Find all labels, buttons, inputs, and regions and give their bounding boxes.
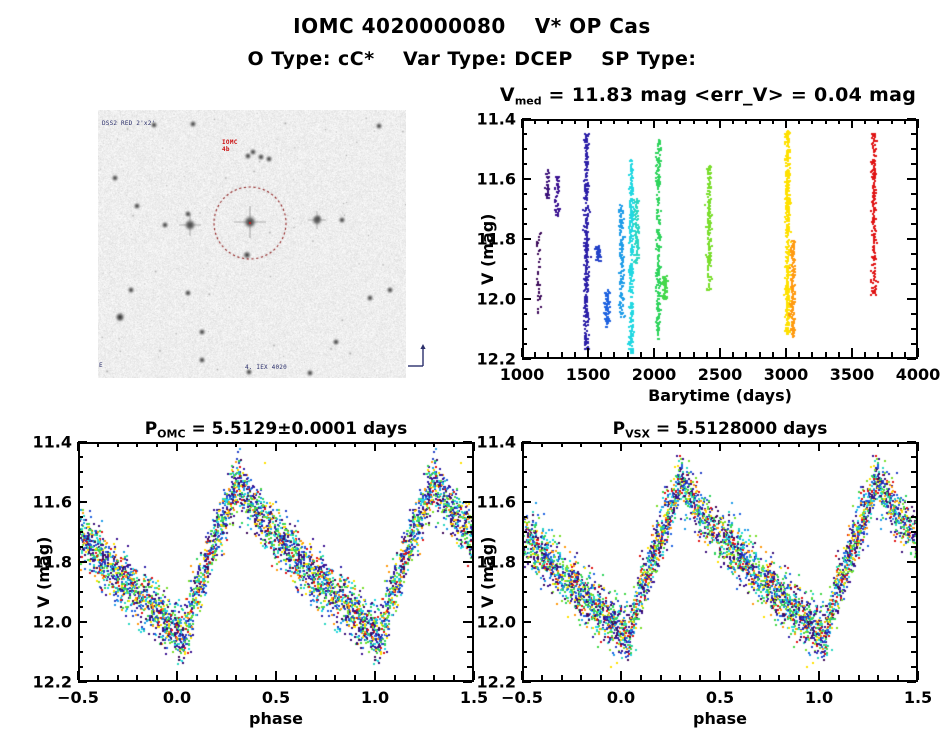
x-tick-mark [275,442,277,451]
x-tick-mark [77,442,79,451]
x-minor-tick [811,352,813,357]
y-minor-tick [911,133,916,135]
x-minor-tick [877,119,879,124]
x-minor-tick [732,119,734,124]
finder-left-label: E [99,362,103,369]
x-tick-label: 1.5 [904,688,932,707]
y-tick-label: 11.6 [20,493,72,512]
x-tick-label: 1000 [500,365,545,384]
x-tick-mark [587,119,589,128]
y-minor-tick [911,531,916,533]
vmed-text: = 11.83 mag <err_V> = 0.04 mag [542,84,917,106]
x-minor-tick [547,352,549,357]
y-tick-mark [522,178,531,180]
y-tick-mark [522,118,531,120]
x-minor-tick [613,119,615,124]
x-minor-tick [679,442,681,447]
vmed-subscript: med [515,94,542,107]
y-minor-tick [78,471,83,473]
x-minor-tick [825,352,827,357]
x-minor-tick [561,442,563,447]
x-tick-mark [275,671,277,680]
x-minor-tick [196,442,198,447]
phase-omc-period-symbol: P [145,419,157,439]
y-minor-tick [78,546,83,548]
y-tick-mark [907,118,916,120]
y-minor-tick [911,591,916,593]
y-minor-tick [78,591,83,593]
phase-vsx-title: PVSX = 5.5128000 days [522,419,918,440]
x-tick-label: 2500 [698,365,743,384]
y-tick-mark [907,561,916,563]
x-tick-mark [818,442,820,451]
y-minor-tick [78,651,83,653]
x-minor-tick [574,119,576,124]
y-minor-tick [467,471,472,473]
y-tick-mark [907,358,916,360]
y-minor-tick [522,531,527,533]
x-minor-tick [778,675,780,680]
o-type-label: O Type: [247,48,330,70]
y-tick-mark [78,681,87,683]
y-minor-tick [522,343,527,345]
y-tick-mark [78,441,87,443]
x-minor-tick [627,352,629,357]
y-tick-mark [907,298,916,300]
y-tick-mark [907,441,916,443]
dss-finder-image [98,110,406,378]
x-minor-tick [216,442,218,447]
x-minor-tick [541,675,543,680]
x-tick-label: 0.0 [607,688,635,707]
phase-omc-scatter [80,444,472,680]
x-minor-tick [759,352,761,357]
y-tick-mark [522,561,531,563]
y-minor-tick [911,666,916,668]
x-tick-label: 0.0 [163,688,191,707]
x-minor-tick [745,352,747,357]
y-minor-tick [911,576,916,578]
x-minor-tick [745,119,747,124]
vmed-symbol: V [500,84,515,106]
x-tick-mark [818,671,820,680]
y-minor-tick [78,516,83,518]
phase-omc-x-label: phase [78,709,474,728]
x-minor-tick [877,675,879,680]
x-minor-tick [315,442,317,447]
y-minor-tick [522,313,527,315]
phase-omc-title: POMC = 5.5129±0.0001 days [78,419,474,440]
x-minor-tick [904,352,906,357]
object-type-line: O Type: cC* Var Type: DCEP SP Type: [0,48,944,70]
y-minor-tick [911,283,916,285]
x-tick-mark [521,671,523,680]
y-minor-tick [522,651,527,653]
x-tick-label: 1500 [566,365,611,384]
x-minor-tick [414,442,416,447]
x-tick-mark [521,119,523,128]
x-tick-mark [374,442,376,451]
x-minor-tick [580,442,582,447]
x-minor-tick [699,442,701,447]
x-minor-tick [811,119,813,124]
phase-omc-period-text: = 5.5129±0.0001 days [186,419,408,439]
x-minor-tick [97,675,99,680]
y-minor-tick [911,343,916,345]
phase-vsx-y-label: V (mag) [478,537,497,609]
y-tick-label: 11.4 [464,433,516,452]
x-minor-tick [453,675,455,680]
x-minor-tick [699,675,701,680]
x-minor-tick [660,675,662,680]
x-minor-tick [295,675,297,680]
x-minor-tick [706,119,708,124]
x-minor-tick [354,442,356,447]
x-minor-tick [561,352,563,357]
phase-omc-y-label: V (mag) [34,537,53,609]
x-tick-mark [620,671,622,680]
y-minor-tick [911,328,916,330]
y-minor-tick [911,456,916,458]
x-minor-tick [561,119,563,124]
y-tick-mark [522,358,531,360]
x-minor-tick [858,442,860,447]
y-tick-label: 12.0 [464,613,516,632]
x-minor-tick [255,442,257,447]
x-tick-mark [521,348,523,357]
x-minor-tick [235,675,237,680]
x-minor-tick [838,442,840,447]
y-minor-tick [467,486,472,488]
x-minor-tick [156,675,158,680]
y-minor-tick [522,546,527,548]
var-type-value: DCEP [514,48,573,70]
x-minor-tick [394,442,396,447]
page-title: IOMC 4020000080 V* OP Cas [0,14,944,38]
x-minor-tick [640,352,642,357]
phase-omc-period-subscript: OMC [157,427,185,440]
y-minor-tick [522,666,527,668]
x-tick-mark [917,442,919,451]
x-tick-mark [719,671,721,680]
x-tick-mark [77,671,79,680]
phase-vsx-period-text: = 5.5128000 days [650,419,827,439]
x-minor-tick [561,675,563,680]
x-tick-mark [719,348,721,357]
x-tick-mark [719,442,721,451]
y-tick-mark [907,501,916,503]
y-minor-tick [522,486,527,488]
x-minor-tick [897,442,899,447]
x-minor-tick [679,675,681,680]
y-minor-tick [78,456,83,458]
y-minor-tick [467,576,472,578]
x-minor-tick [825,119,827,124]
y-minor-tick [467,666,472,668]
catalog-id: IOMC 4020000080 [293,14,506,38]
y-minor-tick [522,283,527,285]
x-minor-tick [679,352,681,357]
x-minor-tick [858,675,860,680]
y-minor-tick [78,486,83,488]
y-minor-tick [522,576,527,578]
star-name: V* OP Cas [535,14,651,38]
x-tick-label: 1.0 [361,688,389,707]
x-minor-tick [732,352,734,357]
y-minor-tick [467,531,472,533]
y-minor-tick [467,651,472,653]
x-minor-tick [897,675,899,680]
x-tick-label: 3000 [764,365,809,384]
x-minor-tick [534,352,536,357]
x-minor-tick [334,675,336,680]
y-tick-mark [907,178,916,180]
y-minor-tick [78,666,83,668]
y-minor-tick [522,253,527,255]
compass-icon [404,343,430,377]
phase-vsx-x-label: phase [522,709,918,728]
finder-corner-label: DSS2 RED 2'x2' [102,120,155,127]
x-minor-tick [433,442,435,447]
y-minor-tick [911,516,916,518]
y-tick-mark [522,441,531,443]
x-minor-tick [600,675,602,680]
x-minor-tick [864,352,866,357]
y-minor-tick [911,486,916,488]
finder-target-label: IOMC 4b [222,139,238,153]
x-minor-tick [666,352,668,357]
y-minor-tick [911,148,916,150]
y-minor-tick [78,576,83,578]
y-tick-mark [522,501,531,503]
x-tick-mark [176,671,178,680]
x-minor-tick [693,352,695,357]
x-minor-tick [627,119,629,124]
x-minor-tick [759,675,761,680]
x-minor-tick [660,442,662,447]
y-minor-tick [467,636,472,638]
x-minor-tick [255,675,257,680]
x-minor-tick [136,675,138,680]
y-minor-tick [522,516,527,518]
x-tick-mark [653,348,655,357]
y-minor-tick [911,163,916,165]
x-minor-tick [600,352,602,357]
x-minor-tick [666,119,668,124]
x-tick-label: −0.5 [501,688,543,707]
x-minor-tick [778,442,780,447]
y-minor-tick [522,636,527,638]
y-tick-label: 12.0 [20,613,72,632]
x-minor-tick [772,352,774,357]
y-tick-mark [522,621,531,623]
x-minor-tick [295,442,297,447]
x-minor-tick [394,675,396,680]
y-minor-tick [522,163,527,165]
y-minor-tick [911,606,916,608]
y-minor-tick [467,546,472,548]
y-minor-tick [522,148,527,150]
y-minor-tick [78,606,83,608]
x-minor-tick [891,119,893,124]
x-minor-tick [739,675,741,680]
y-minor-tick [522,268,527,270]
x-minor-tick [877,352,879,357]
x-tick-label: 0.5 [706,688,734,707]
y-minor-tick [522,193,527,195]
y-tick-mark [78,501,87,503]
x-tick-mark [851,119,853,128]
x-tick-label: 1.0 [805,688,833,707]
y-tick-mark [522,681,531,683]
x-minor-tick [334,442,336,447]
x-minor-tick [739,442,741,447]
x-minor-tick [613,352,615,357]
x-minor-tick [904,119,906,124]
x-minor-tick [216,675,218,680]
vmed-summary: Vmed = 11.83 mag <err_V> = 0.04 mag [472,84,944,107]
o-type-value: cC* [338,48,375,70]
y-tick-label: 11.8 [20,553,72,572]
x-minor-tick [864,119,866,124]
x-tick-mark [785,119,787,128]
y-minor-tick [911,268,916,270]
y-minor-tick [467,591,472,593]
x-minor-tick [541,442,543,447]
x-minor-tick [354,675,356,680]
x-minor-tick [156,442,158,447]
x-tick-mark [176,442,178,451]
x-tick-mark [719,119,721,128]
x-minor-tick [838,352,840,357]
phase-vsx-scatter [524,444,916,680]
y-tick-mark [907,621,916,623]
x-tick-label: 4000 [896,365,941,384]
x-minor-tick [693,119,695,124]
x-tick-label: −0.5 [57,688,99,707]
x-minor-tick [759,442,761,447]
y-minor-tick [911,208,916,210]
y-minor-tick [522,223,527,225]
y-minor-tick [522,328,527,330]
y-tick-label: 11.8 [464,553,516,572]
y-minor-tick [522,591,527,593]
var-type-label: Var Type: [403,48,507,70]
x-tick-mark [851,348,853,357]
x-minor-tick [640,675,642,680]
x-minor-tick [772,119,774,124]
x-minor-tick [97,442,99,447]
timeseries-y-label: V (mag) [478,214,497,286]
x-minor-tick [315,675,317,680]
finder-bottom-label: 4. IEX 4020 [245,364,287,371]
x-minor-tick [547,119,549,124]
x-minor-tick [838,119,840,124]
x-tick-mark [521,442,523,451]
y-tick-mark [907,238,916,240]
x-minor-tick [877,442,879,447]
x-minor-tick [117,442,119,447]
x-tick-mark [620,442,622,451]
x-minor-tick [574,352,576,357]
x-minor-tick [679,119,681,124]
x-tick-mark [785,348,787,357]
x-minor-tick [640,119,642,124]
y-minor-tick [911,253,916,255]
x-minor-tick [706,352,708,357]
y-minor-tick [911,313,916,315]
x-minor-tick [117,675,119,680]
x-minor-tick [235,442,237,447]
y-minor-tick [911,636,916,638]
phase-vsx-period-subscript: VSX [625,427,650,440]
timeseries-x-label: Barytime (days) [522,386,918,405]
x-tick-mark [587,348,589,357]
y-minor-tick [911,471,916,473]
x-tick-label: 3500 [830,365,875,384]
x-minor-tick [759,119,761,124]
x-minor-tick [534,119,536,124]
x-minor-tick [196,675,198,680]
y-tick-label: 11.6 [464,170,516,189]
sp-type-label: SP Type: [601,48,696,70]
x-minor-tick [640,442,642,447]
y-minor-tick [78,636,83,638]
x-minor-tick [838,675,840,680]
phase-vsx-period-symbol: P [613,419,625,439]
y-tick-mark [78,561,87,563]
y-tick-label: 11.6 [464,493,516,512]
y-minor-tick [522,606,527,608]
y-tick-label: 12.0 [464,290,516,309]
y-minor-tick [522,471,527,473]
y-tick-mark [78,621,87,623]
x-minor-tick [414,675,416,680]
y-minor-tick [911,193,916,195]
y-minor-tick [911,651,916,653]
y-minor-tick [467,606,472,608]
y-minor-tick [522,133,527,135]
y-minor-tick [911,546,916,548]
x-minor-tick [600,119,602,124]
x-tick-mark [917,119,919,128]
y-minor-tick [467,516,472,518]
x-minor-tick [136,442,138,447]
x-tick-mark [917,348,919,357]
x-minor-tick [798,675,800,680]
y-tick-label: 11.4 [20,433,72,452]
y-tick-label: 11.4 [464,110,516,129]
x-minor-tick [798,442,800,447]
x-tick-mark [653,119,655,128]
y-minor-tick [522,456,527,458]
y-minor-tick [911,223,916,225]
y-tick-mark [522,298,531,300]
timeseries-scatter [524,121,916,357]
x-tick-label: 0.5 [262,688,290,707]
x-minor-tick [891,352,893,357]
y-tick-label: 11.8 [464,230,516,249]
x-minor-tick [798,352,800,357]
x-minor-tick [798,119,800,124]
x-minor-tick [453,442,455,447]
x-minor-tick [580,675,582,680]
y-minor-tick [522,208,527,210]
x-tick-label: 2000 [632,365,677,384]
y-tick-mark [907,681,916,683]
x-tick-mark [374,671,376,680]
y-minor-tick [78,531,83,533]
